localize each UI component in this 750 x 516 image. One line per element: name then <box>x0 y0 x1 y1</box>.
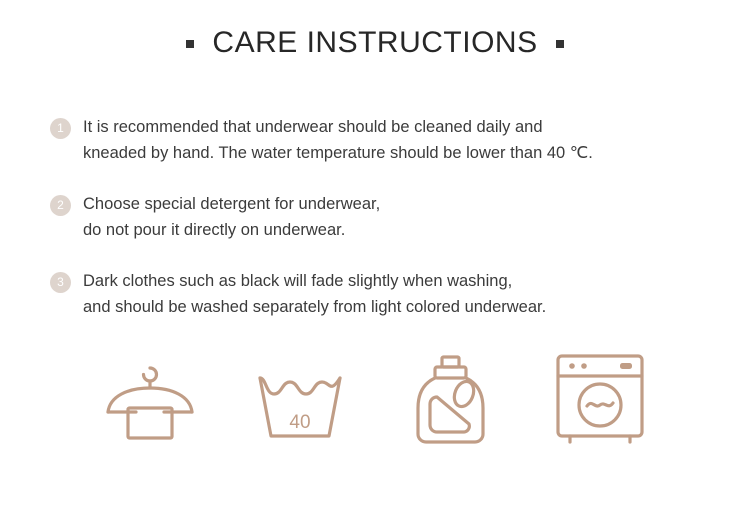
instruction-line: do not pour it directly on underwear. <box>83 217 730 243</box>
instruction-line: and should be washed separately from lig… <box>83 294 730 320</box>
instruction-line: Choose special detergent for underwear, <box>83 191 730 217</box>
instruction-line: kneaded by hand. The water temperature s… <box>83 140 730 166</box>
list-item: 3 Dark clothes such as black will fade s… <box>50 268 730 320</box>
page-title: CARE INSTRUCTIONS <box>212 28 537 58</box>
hanger-icon <box>98 348 202 452</box>
wash-tub-temperature: 40 <box>289 412 310 433</box>
instruction-text: It is recommended that underwear should … <box>83 114 730 166</box>
step-number-badge: 3 <box>50 272 71 293</box>
instruction-text: Choose special detergent for underwear, … <box>83 191 730 243</box>
detergent-bottle-icon <box>398 348 502 452</box>
square-bullet-right-icon <box>556 40 564 48</box>
list-item: 1 It is recommended that underwear shoul… <box>50 114 730 166</box>
instruction-text: Dark clothes such as black will fade sli… <box>83 268 730 320</box>
instruction-line: It is recommended that underwear should … <box>83 114 730 140</box>
square-bullet-left-icon <box>186 40 194 48</box>
step-number-badge: 1 <box>50 118 71 139</box>
page-title-row: CARE INSTRUCTIONS <box>0 28 750 58</box>
care-icon-row: 40 <box>0 345 750 455</box>
step-number-badge: 2 <box>50 195 71 216</box>
instruction-line: Dark clothes such as black will fade sli… <box>83 268 730 294</box>
wash-tub-icon: 40 <box>248 348 352 452</box>
washing-machine-icon <box>548 348 652 452</box>
care-instructions-page: CARE INSTRUCTIONS 1 It is recommended th… <box>0 0 750 516</box>
list-item: 2 Choose special detergent for underwear… <box>50 191 730 243</box>
instruction-list: 1 It is recommended that underwear shoul… <box>50 114 730 345</box>
